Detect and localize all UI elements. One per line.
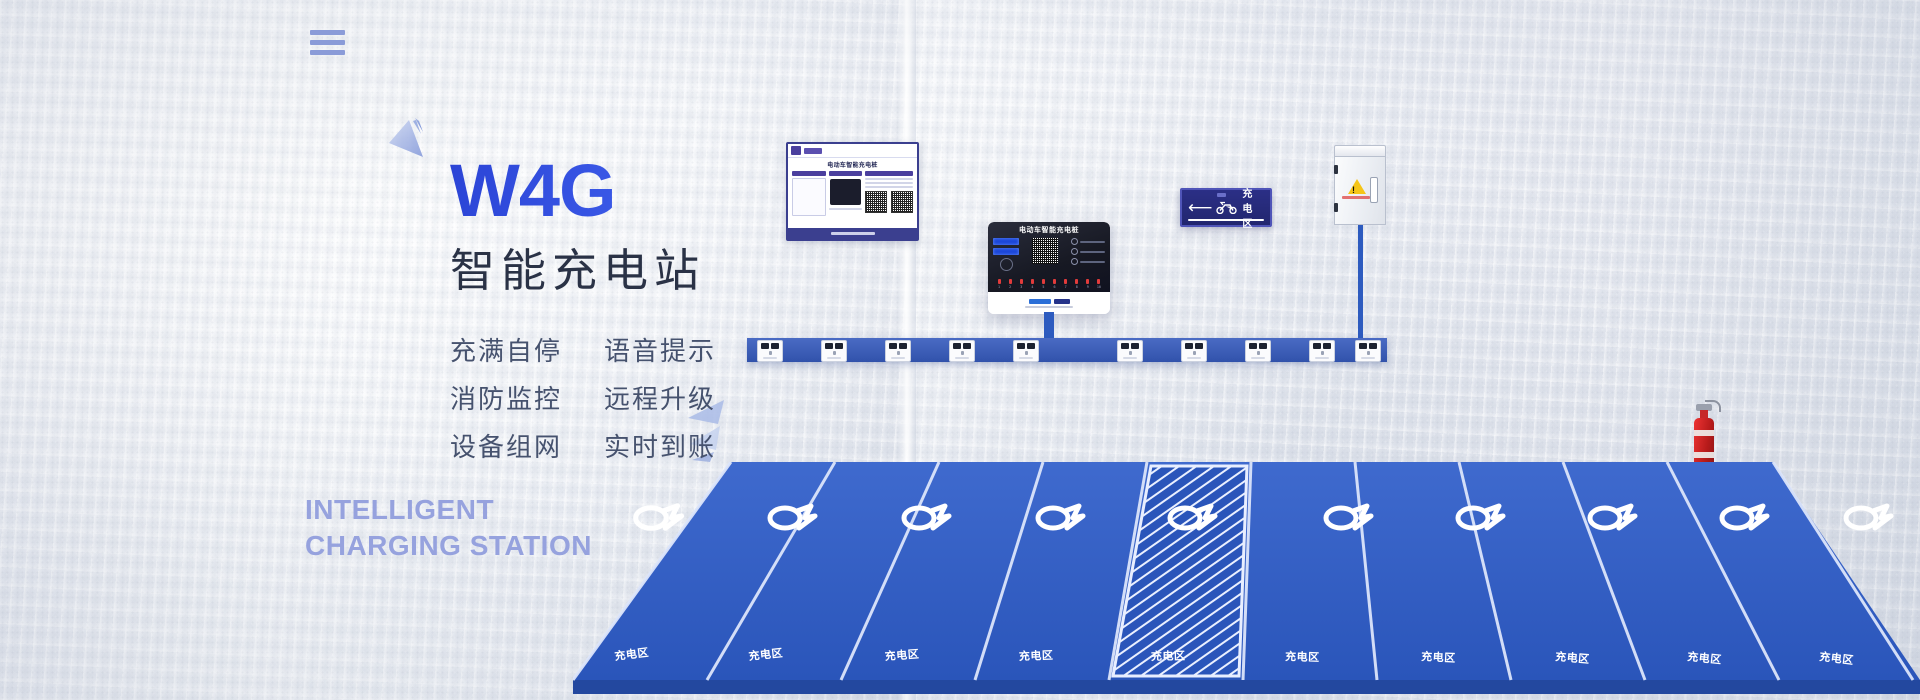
port-indicator: 1 xyxy=(994,279,1004,289)
wall-socket xyxy=(1355,340,1381,362)
paper-dart-top-decor xyxy=(389,118,435,166)
feature-item: 设备组网 xyxy=(450,427,562,464)
charging-pile-footer xyxy=(988,292,1110,314)
socket-rail xyxy=(747,338,1387,362)
parking-floor: 充电区 充电区 充电区 充电区 充电区 充电区 充电区 充电区 充电区 充电区 xyxy=(573,462,1920,700)
warning-exclamation-icon: ! xyxy=(1352,186,1355,195)
sign-mount-bracket xyxy=(1217,193,1226,197)
charging-pile-panel: 电动车智能充电桩 1 2 3 4 xyxy=(988,222,1110,292)
poster-logo-icon xyxy=(791,146,801,155)
english-subtitle: INTELLIGENT CHARGING STATION xyxy=(305,492,592,564)
poster-text-line xyxy=(865,178,913,180)
extinguisher-label-band xyxy=(1694,430,1714,436)
cabinet-conduit-pipe xyxy=(1358,225,1363,341)
feature-row: 设备组网 实时到账 xyxy=(450,427,870,464)
info-row xyxy=(1071,248,1105,255)
info-bullet-icon xyxy=(1071,258,1078,265)
charging-pile-qr-area xyxy=(1023,238,1067,264)
poster-column-right xyxy=(865,171,913,216)
info-text-bar xyxy=(1080,251,1105,253)
wall-socket xyxy=(757,340,783,362)
charging-pile-display-group xyxy=(993,238,1019,271)
sign-label: 充电区 xyxy=(1242,185,1264,230)
cabinet-body: ! xyxy=(1334,157,1386,225)
poster-title: 电动车智能充电桩 xyxy=(788,158,917,170)
feature-item: 充满自停 xyxy=(450,331,562,368)
info-text-bar xyxy=(1080,241,1105,243)
poster-qr-group xyxy=(865,191,913,213)
english-line-2: CHARGING STATION xyxy=(305,528,592,564)
pile-conduit-drop xyxy=(1044,312,1054,340)
bay-label: 充电区 xyxy=(1285,649,1320,664)
footer-brand-logo xyxy=(1029,299,1070,304)
bay-label: 充电区 xyxy=(1421,649,1456,665)
e-bike-icon xyxy=(1216,201,1238,214)
feature-item: 实时到账 xyxy=(604,427,716,464)
info-bullet-icon xyxy=(1071,238,1078,245)
bay-label: 充电区 xyxy=(1019,648,1054,663)
qr-code-icon xyxy=(1032,238,1058,264)
wall-socket xyxy=(1245,340,1271,362)
info-row xyxy=(1071,258,1105,265)
poster-column-mid xyxy=(829,171,863,216)
port-indicator: 3 xyxy=(1016,279,1026,289)
port-indicator: 7 xyxy=(1061,279,1071,289)
cabinet-handle xyxy=(1370,177,1378,203)
cabinet-hinge xyxy=(1334,203,1338,212)
poster-flow-box xyxy=(792,178,826,216)
port-indicator: 9 xyxy=(1083,279,1093,289)
charging-port-indicators: 1 2 3 4 5 6 7 8 9 10 xyxy=(988,279,1110,289)
wall-socket xyxy=(1117,340,1143,362)
charging-pile-device: 电动车智能充电桩 1 2 3 4 xyxy=(988,222,1110,314)
extinguisher-label-band xyxy=(1694,452,1714,458)
cabinet-hinge xyxy=(1334,165,1338,174)
hero-banner: W4G 智能充电站 充满自停 语音提示 消防监控 远程升级 设备组网 实时到账 … xyxy=(0,0,1920,700)
poster-column-left xyxy=(792,171,826,216)
seven-segment-display xyxy=(993,248,1019,255)
wall-socket xyxy=(1013,340,1039,362)
info-bullet-icon xyxy=(1071,248,1078,255)
speaker-icon xyxy=(1000,258,1013,271)
english-line-1: INTELLIGENT xyxy=(305,492,592,528)
port-indicator: 6 xyxy=(1050,279,1060,289)
menu-bar-1 xyxy=(310,30,345,35)
qr-code-icon xyxy=(891,191,913,213)
high-voltage-warning-icon xyxy=(1348,179,1366,194)
electrical-cabinet: ! xyxy=(1334,145,1386,225)
wall-socket xyxy=(821,340,847,362)
poster-text-line xyxy=(829,208,863,210)
direction-sign: ⟵ 充电区 xyxy=(1180,188,1272,227)
wall-socket xyxy=(949,340,975,362)
port-indicator: 8 xyxy=(1072,279,1082,289)
sign-underline xyxy=(1188,219,1264,221)
bay-label: 充电区 xyxy=(1151,648,1186,663)
menu-bar-3 xyxy=(310,50,345,55)
poster-device-image xyxy=(830,179,862,205)
poster-text-line xyxy=(865,186,913,188)
wall-socket xyxy=(1309,340,1335,362)
poster-tag xyxy=(865,171,913,176)
footer-text-line xyxy=(1025,306,1073,308)
bay-label: 充电区 xyxy=(884,647,919,663)
poster-tag xyxy=(792,171,826,176)
charging-pile-title: 电动车智能充电桩 xyxy=(993,225,1105,235)
seven-segment-display xyxy=(993,238,1019,245)
warning-label-bar xyxy=(1342,196,1370,199)
info-text-bar xyxy=(1080,261,1105,263)
hamburger-menu-icon[interactable] xyxy=(310,30,345,58)
charging-pile-middle xyxy=(993,238,1105,271)
wall-poster: 电动车智能充电桩 xyxy=(786,142,919,241)
poster-text-line xyxy=(865,182,913,184)
left-arrow-icon: ⟵ xyxy=(1188,199,1212,216)
poster-brand-bar xyxy=(804,148,822,154)
port-indicator: 2 xyxy=(1005,279,1015,289)
feature-row: 消防监控 远程升级 xyxy=(450,379,870,416)
feature-item: 消防监控 xyxy=(450,379,562,416)
feature-item: 远程升级 xyxy=(604,379,716,416)
info-row xyxy=(1071,238,1105,245)
menu-bar-2 xyxy=(310,40,345,45)
qr-code-icon xyxy=(865,191,887,213)
feature-item: 语音提示 xyxy=(604,331,716,368)
poster-tag xyxy=(829,171,863,176)
port-indicator: 10 xyxy=(1094,279,1104,289)
charging-pile-info-group xyxy=(1071,238,1105,268)
port-indicator: 5 xyxy=(1038,279,1048,289)
port-indicator: 4 xyxy=(1027,279,1037,289)
brand-subtitle-cn: 智能充电站 xyxy=(450,234,870,299)
poster-footer xyxy=(788,228,917,239)
wall-socket xyxy=(885,340,911,362)
cabinet-top-cap xyxy=(1334,145,1386,157)
poster-body xyxy=(788,170,917,217)
poster-header xyxy=(788,144,917,158)
wall-socket xyxy=(1181,340,1207,362)
